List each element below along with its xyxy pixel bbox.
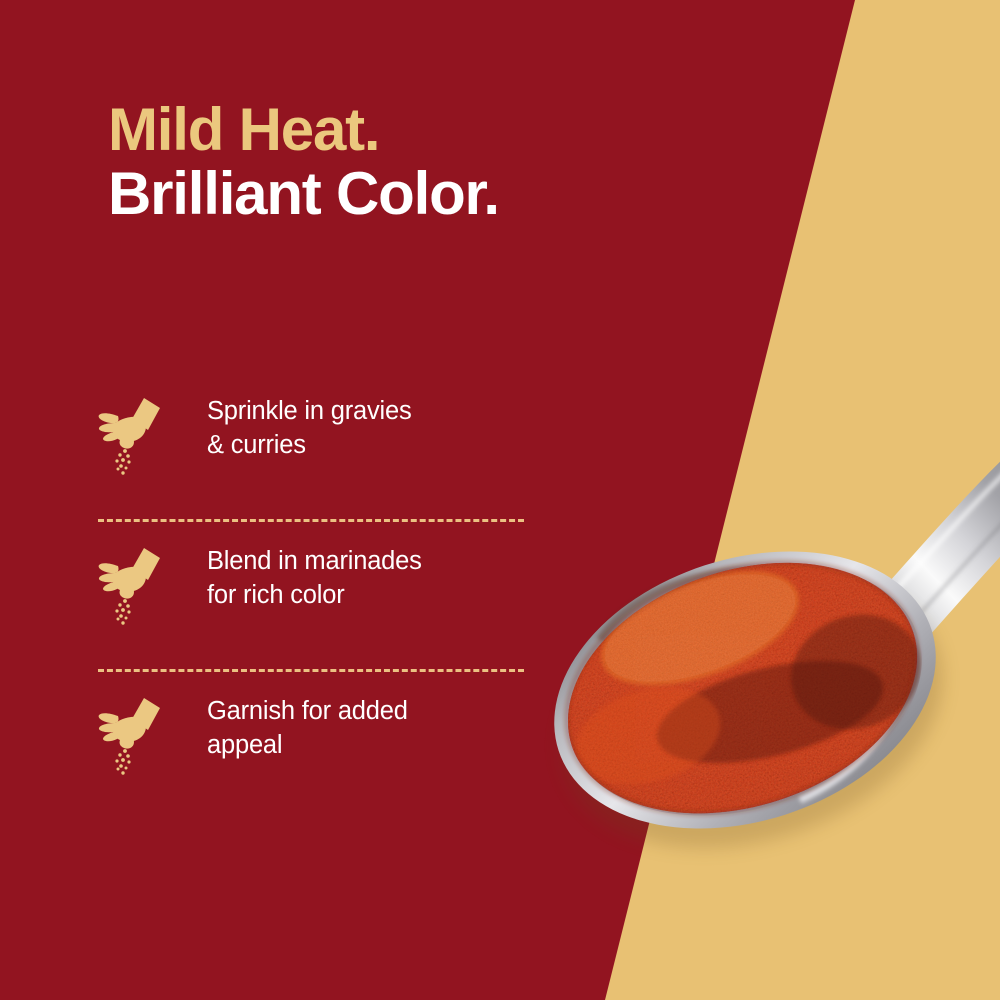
feature-label-line-2: & curries xyxy=(207,428,524,462)
feature-label-line-2: appeal xyxy=(207,728,524,762)
spoon-neck xyxy=(800,597,887,673)
sprinkle-granules xyxy=(115,449,130,475)
feature-label-line-2: for rich color xyxy=(207,578,524,612)
feature-label: Garnish for added appeal xyxy=(172,688,524,762)
sprinkle-granules xyxy=(115,599,130,625)
feature-label: Sprinkle in gravies & curries xyxy=(172,388,524,462)
feature-divider xyxy=(98,669,524,672)
headline-line-1: Mild Heat. xyxy=(108,98,728,162)
feature-divider xyxy=(98,519,524,522)
feature-label: Blend in marinades for rich color xyxy=(172,538,524,612)
feature-list: Sprinkle in gravies & curries xyxy=(98,388,524,806)
promo-banner: Mild Heat. Brilliant Color. xyxy=(0,0,1000,1000)
headline-line-2: Brilliant Color. xyxy=(108,162,728,226)
feature-label-line-1: Garnish for added xyxy=(207,694,524,728)
page-title: Mild Heat. Brilliant Color. xyxy=(108,98,728,226)
sprinkling-hand-icon xyxy=(98,538,172,626)
sprinkling-hand-icon xyxy=(98,388,172,476)
feature-item: Sprinkle in gravies & curries xyxy=(98,388,524,506)
feature-label-line-1: Sprinkle in gravies xyxy=(207,394,524,428)
sprinkling-hand-icon xyxy=(98,688,172,776)
feature-item: Blend in marinades for rich color xyxy=(98,538,524,656)
spoon-handle xyxy=(862,452,1000,660)
feature-label-line-1: Blend in marinades xyxy=(207,544,524,578)
feature-item: Garnish for added appeal xyxy=(98,688,524,806)
sprinkle-granules xyxy=(115,749,130,775)
